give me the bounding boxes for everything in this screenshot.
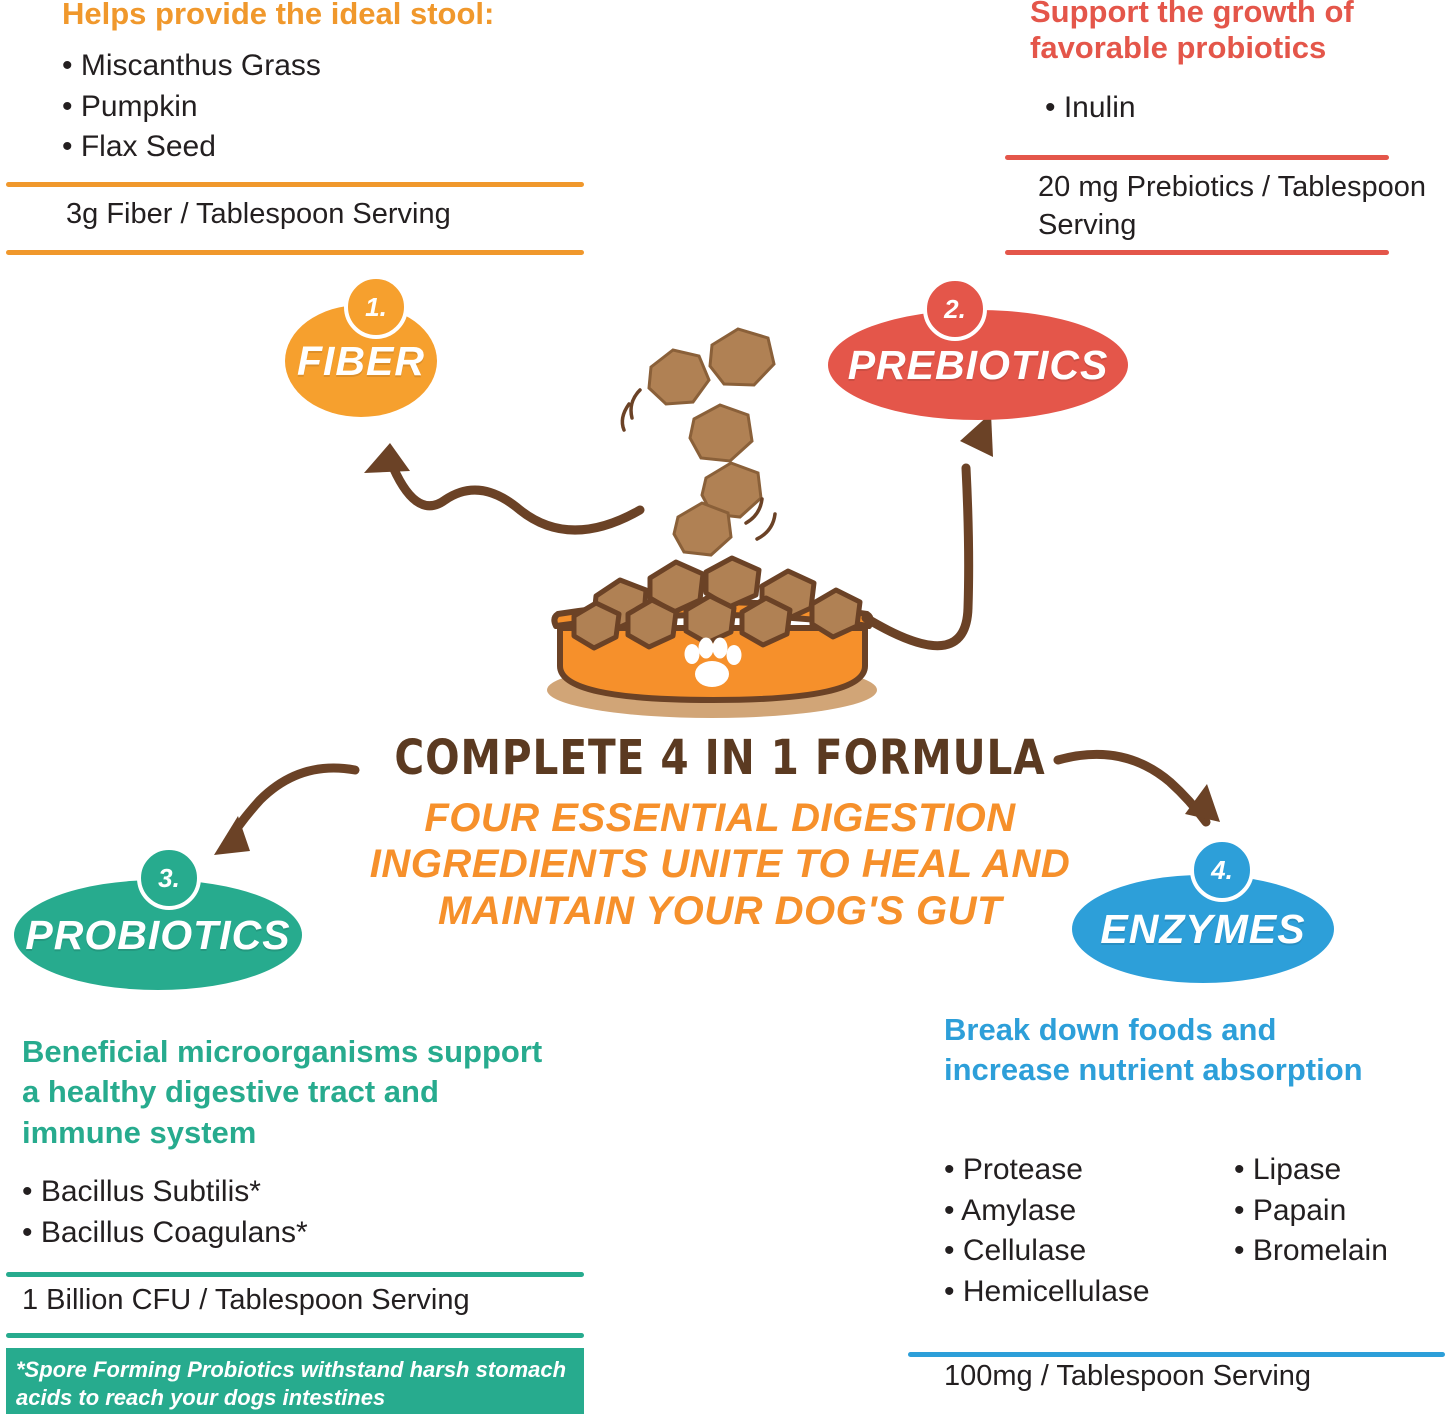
- fiber-ingredient-list: • Miscanthus Grass • Pumpkin • Flax Seed: [62, 46, 622, 168]
- fiber-heading: Helps provide the ideal stool:: [62, 0, 622, 32]
- prebiotics-claim: 20 mg Prebiotics / Tablespoon Serving: [1038, 168, 1438, 245]
- badge-prebiotics-label: PREBIOTICS: [848, 342, 1109, 389]
- center-title: COMPLETE 4 IN 1 FORMULA: [391, 730, 1049, 786]
- badge-enzymes-number: 4.: [1190, 838, 1254, 902]
- center-subtitle: FOUR ESSENTIAL DIGESTION INGREDIENTS UNI…: [350, 795, 1090, 934]
- paw-print: [685, 638, 742, 688]
- prebiotics-ingredient-list: • Inulin: [1045, 88, 1445, 129]
- enzymes-heading: Break down foods and increase nutrient a…: [944, 1010, 1404, 1091]
- enzymes-divider: [908, 1352, 1445, 1357]
- list-item: • Flax Seed: [62, 127, 622, 168]
- list-item: • Amylase: [944, 1191, 1214, 1232]
- list-item: • Cellulase: [944, 1231, 1214, 1272]
- fiber-divider-top: [6, 182, 584, 187]
- list-item: • Pumpkin: [62, 87, 622, 128]
- probiotics-divider-bottom: [6, 1333, 584, 1338]
- badge-prebiotics-number: 2.: [923, 277, 987, 341]
- list-item: • Protease: [944, 1150, 1214, 1191]
- fiber-divider-bottom: [6, 250, 584, 255]
- fiber-claim: 3g Fiber / Tablespoon Serving: [66, 198, 666, 231]
- probiotics-divider-top: [6, 1272, 584, 1277]
- badge-fiber-label: FIBER: [297, 338, 425, 385]
- list-item: • Bromelain: [1234, 1231, 1388, 1272]
- list-item: • Miscanthus Grass: [62, 46, 622, 87]
- enzymes-claim: 100mg / Tablespoon Serving: [944, 1360, 1445, 1393]
- probiotics-heading: Beneficial microorganisms support a heal…: [22, 1032, 562, 1153]
- probiotics-claim: 1 Billion CFU / Tablespoon Serving: [22, 1284, 622, 1317]
- dog-food-bowl: [547, 558, 877, 718]
- list-item: • Hemicellulase: [944, 1272, 1214, 1313]
- badge-probiotics-label: PROBIOTICS: [25, 912, 290, 959]
- badge-probiotics-number: 3.: [137, 846, 201, 910]
- list-item: • Bacillus Subtilis*: [22, 1172, 562, 1213]
- prebiotics-divider-bottom: [1005, 250, 1389, 255]
- enzymes-column-2: • Lipase • Papain • Bromelain: [1234, 1150, 1388, 1312]
- enzymes-ingredient-list: • Protease • Amylase • Cellulase • Hemic…: [944, 1150, 1444, 1312]
- probiotics-footnote: *Spore Forming Probiotics withstand hars…: [6, 1348, 584, 1414]
- prebiotics-divider-top: [1005, 155, 1389, 160]
- list-item: • Bacillus Coagulans*: [22, 1213, 562, 1254]
- badge-fiber-number: 1.: [344, 275, 408, 339]
- kibble-pieces: [649, 329, 774, 555]
- list-item: • Papain: [1234, 1191, 1388, 1232]
- list-item: • Lipase: [1234, 1150, 1388, 1191]
- prebiotics-heading: Support the growth of favorable probioti…: [1030, 0, 1445, 65]
- badge-enzymes-label: ENZYMES: [1100, 906, 1305, 953]
- probiotics-ingredient-list: • Bacillus Subtilis* • Bacillus Coagulan…: [22, 1172, 562, 1253]
- enzymes-column-1: • Protease • Amylase • Cellulase • Hemic…: [944, 1150, 1214, 1312]
- arrow-head: [214, 413, 1220, 855]
- list-item: • Inulin: [1045, 88, 1445, 129]
